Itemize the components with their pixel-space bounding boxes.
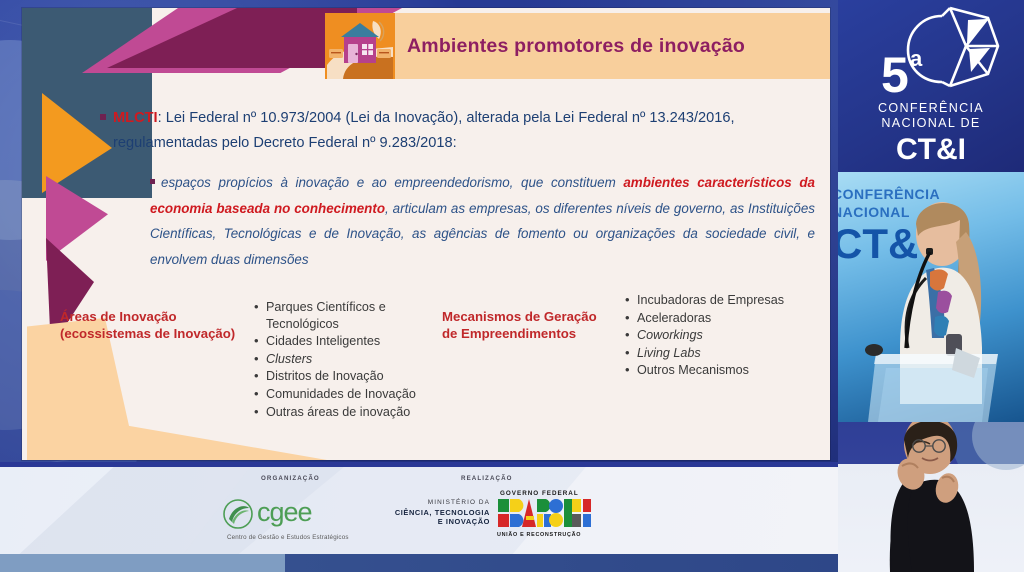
- governo-federal-label: GOVERNO FEDERAL: [500, 490, 579, 497]
- list-item-label: Coworkings: [637, 327, 703, 344]
- label-realizacao: REALIZAÇÃO: [461, 475, 513, 482]
- list-item-label: Clusters: [266, 351, 312, 368]
- col1-list: •Parques Científicos e Tecnológicos •Cid…: [254, 299, 434, 421]
- list-item-label: Aceleradoras: [637, 310, 711, 327]
- mcti-wordmark: MINISTÉRIO DA CIÊNCIA, TECNOLOGIA E INOV…: [370, 498, 490, 527]
- cgee-tagline: Centro de Gestão e Estudos Estratégicos: [227, 534, 349, 541]
- bullet-dot-icon: •: [625, 292, 637, 309]
- list-item: •Comunidades de Inovação: [254, 386, 434, 403]
- footer-topbar: [0, 462, 838, 467]
- list-item-label: Outras áreas de inovação: [266, 404, 410, 421]
- col2-list: •Incubadoras de Empresas •Aceleradoras •…: [625, 292, 815, 380]
- list-item: •Parques Científicos e Tecnológicos: [254, 299, 434, 332]
- col1-heading-line1: Áreas de Inovação: [60, 308, 270, 325]
- slide-body: MLCTI: Lei Federal nº 10.973/2004 (Lei d…: [100, 106, 810, 156]
- list-item-label: Parques Científicos e Tecnológicos: [266, 299, 434, 332]
- bullet-dot-icon: •: [625, 362, 637, 379]
- list-item-label: Outros Mecanismos: [637, 362, 749, 379]
- conference-logo-panel: 5 a CONFERÊNCIA NACIONAL DE CT&I: [838, 0, 1024, 172]
- bullet-dot-icon: •: [625, 345, 637, 362]
- speaker-video[interactable]: CONFERÊNCIA NACIONAL CT&: [838, 172, 1024, 422]
- presentation-slide: Ambientes promotores de inovação MLCTI: …: [22, 8, 830, 460]
- brasil-wordmark-icon: [498, 499, 594, 534]
- slide-title: Ambientes promotores de inovação: [407, 13, 830, 79]
- list-item: •Outros Mecanismos: [625, 362, 815, 379]
- bullet-dot-icon: •: [254, 404, 266, 421]
- list-item-label: Cidades Inteligentes: [266, 333, 380, 350]
- uniao-reconstrucao-label: UNIÃO E RECONSTRUÇÃO: [497, 532, 581, 538]
- list-item: •Living Labs: [625, 345, 815, 362]
- conference-line-2: NACIONAL DE: [838, 116, 1024, 130]
- bullet-dot-icon: •: [625, 310, 637, 327]
- footer-bottom-band: [0, 554, 838, 572]
- sponsor-footer: ORGANIZAÇÃO REALIZAÇÃO cgee Centro de Ge…: [0, 462, 838, 572]
- col2-heading: Mecanismos de Geração de Empreendimentos: [442, 308, 642, 342]
- house-innovation-icon: [325, 13, 395, 79]
- logo-ordinal-a: a: [910, 48, 922, 70]
- cgee-mark-icon: [223, 499, 253, 534]
- sub-bullet-square-icon: [150, 179, 155, 184]
- conference-acronym: CT&I: [838, 133, 1024, 167]
- bullet-square-icon: [100, 114, 106, 120]
- screen: Ambientes promotores de inovação MLCTI: …: [0, 0, 1024, 572]
- right-rail: 5 a CONFERÊNCIA NACIONAL DE CT&I CONFERÊ…: [838, 0, 1024, 572]
- mcti-line2: CIÊNCIA, TECNOLOGIA: [370, 508, 490, 518]
- bullet-dot-icon: •: [254, 386, 266, 403]
- sub-bullet-part1: espaços propícios à inovação e ao empree…: [161, 175, 623, 190]
- bullet-dot-icon: •: [254, 333, 266, 350]
- col2-heading-line2: de Empreendimentos: [442, 325, 642, 342]
- list-item: •Incubadoras de Empresas: [625, 292, 815, 309]
- cgee-wordmark: cgee: [257, 497, 312, 528]
- list-item-label: Living Labs: [637, 345, 701, 362]
- bullet-dot-icon: •: [254, 299, 266, 316]
- col2-heading-line1: Mecanismos de Geração: [442, 308, 642, 325]
- decor-teal-wedge: [22, 8, 152, 198]
- bullet-mlcti-lead: MLCTI: [113, 110, 158, 126]
- bullet-mlcti-line2: regulamentadas pelo Decreto Federal nº 9…: [100, 131, 810, 156]
- bullet-mlcti: MLCTI: Lei Federal nº 10.973/2004 (Lei d…: [100, 106, 810, 156]
- bullet-dot-icon: •: [254, 351, 266, 368]
- list-item: •Coworkings: [625, 327, 815, 344]
- list-item: •Aceleradoras: [625, 310, 815, 327]
- conference-line-1: CONFERÊNCIA: [838, 101, 1024, 115]
- mcti-line3: E INOVAÇÃO: [370, 517, 490, 527]
- list-item-label: Incubadoras de Empresas: [637, 292, 784, 309]
- logo-number-5: 5: [881, 50, 909, 100]
- sign-language-interpreter[interactable]: [838, 422, 1024, 572]
- sub-bullet-wrap: espaços propícios à inovação e ao empree…: [150, 170, 815, 272]
- mcti-line1: MINISTÉRIO DA: [370, 498, 490, 508]
- list-item: •Cidades Inteligentes: [254, 333, 434, 350]
- col1-heading: Áreas de Inovação (ecossistemas de Inova…: [60, 308, 270, 342]
- list-item: •Distritos de Inovação: [254, 368, 434, 385]
- list-item: •Clusters: [254, 351, 434, 368]
- bullet-mlcti-text: : Lei Federal nº 10.973/2004 (Lei da Ino…: [158, 110, 735, 126]
- bullet-dot-icon: •: [625, 327, 637, 344]
- bullet-dot-icon: •: [254, 368, 266, 385]
- col1-heading-line2: (ecossistemas de Inovação): [60, 325, 270, 342]
- sub-bullet-espacos: espaços propícios à inovação e ao empree…: [150, 170, 815, 272]
- list-item-label: Distritos de Inovação: [266, 368, 384, 385]
- list-item-label: Comunidades de Inovação: [266, 386, 416, 403]
- label-organizacao: ORGANIZAÇÃO: [261, 475, 320, 482]
- list-item: •Outras áreas de inovação: [254, 404, 434, 421]
